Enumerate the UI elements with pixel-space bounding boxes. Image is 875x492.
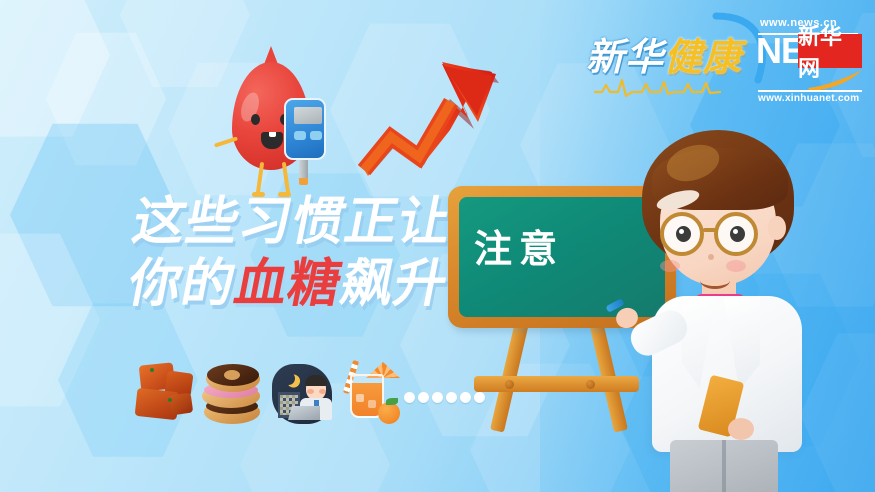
ice-cube-1: [356, 394, 364, 402]
headline-line-2: 你的血糖飙升: [124, 258, 452, 310]
headline-line-1: 这些习惯正让: [128, 196, 456, 248]
xinhua-chinese-name-box: 新华网: [798, 34, 862, 68]
headline-line-2-prefix: 你的: [124, 255, 241, 313]
doctor-pupil-left: [676, 226, 691, 242]
staying-up-late-icon: [268, 356, 334, 430]
rising-trend-arrow: [358, 48, 504, 200]
xinhuanet-logo: www.news.cn NEWS 新华网 www.xinhuanet.com: [754, 14, 866, 106]
habit-icon-row: [132, 356, 402, 432]
blackboard-text: 注意: [474, 218, 564, 273]
doctor-nose: [708, 254, 714, 260]
office-worker-hair: [305, 375, 327, 386]
ice-cube-2: [368, 400, 376, 408]
sugary-drink-icon: [334, 356, 400, 430]
donut-top-hole: [224, 370, 240, 380]
blood-drop-tooth: [269, 132, 276, 137]
doctor-cheek-right: [726, 260, 746, 272]
xinhua-health-brand: 新华健康: [586, 26, 742, 81]
pork-cube-bottom-right: [169, 393, 194, 416]
headline-highlight-blood-sugar: 血糖: [230, 255, 347, 313]
glucose-meter-button-right: [310, 131, 322, 140]
headline-block: 这些习惯正让 你的血糖飙升: [103, 196, 462, 346]
glucose-meter-button-left: [294, 131, 306, 140]
headline-line-2-suffix: 飙升: [336, 255, 453, 313]
brand-word-xinhua: 新华: [586, 37, 664, 79]
glucose-meter: [282, 98, 334, 190]
logo-area: 新华健康 www.news.cn NEWS 新华网 www.xinhuanet.…: [586, 14, 866, 114]
doctor-ear-right: [768, 216, 786, 240]
easel-bolt-left: [505, 380, 514, 389]
doctor-cheek-left: [660, 260, 680, 272]
xinhua-rule-bottom: [758, 90, 862, 92]
doctor-pants-seam: [722, 440, 726, 492]
doctor-eye-glint-right: [733, 229, 738, 234]
office-worker-cheek-left: [307, 389, 314, 394]
pork-garnish-1: [150, 368, 154, 372]
ellipsis-dot: [432, 392, 443, 403]
easel-bolt-right: [586, 380, 595, 389]
doctor-eye-glint-left: [679, 229, 684, 234]
orange-leaf-icon: [386, 398, 398, 405]
brand-word-health: 健康: [664, 37, 742, 79]
ellipsis-dot: [404, 392, 415, 403]
doctor-pupil-right: [730, 226, 745, 242]
cartoon-doctor: [608, 130, 848, 460]
blood-drop-eye-left: [251, 114, 260, 125]
xinhua-url-bottom: www.xinhuanet.com: [758, 93, 859, 104]
glucose-test-strip-tip: [299, 178, 308, 185]
doctor-hand-right: [728, 418, 754, 440]
easel-leg-left: [490, 316, 530, 432]
poster-canvas: 这些习惯正让 你的血糖飙升: [0, 0, 875, 492]
brand-wordmark: 新华健康: [586, 26, 742, 81]
office-worker-cheek-right: [319, 389, 326, 394]
donuts-icon: [200, 356, 266, 430]
glucose-meter-body: [284, 98, 326, 160]
doctor-glasses-bridge: [703, 228, 717, 232]
heartbeat-ecg-icon: [594, 76, 724, 105]
doctor-mouth: [700, 272, 730, 289]
braised-pork-icon: [132, 356, 198, 430]
orange-fruit-icon: [378, 402, 400, 424]
pork-garnish-2: [168, 398, 172, 402]
laptop-icon: [288, 406, 320, 420]
ellipsis-dot: [418, 392, 429, 403]
glucose-meter-screen: [294, 107, 322, 124]
